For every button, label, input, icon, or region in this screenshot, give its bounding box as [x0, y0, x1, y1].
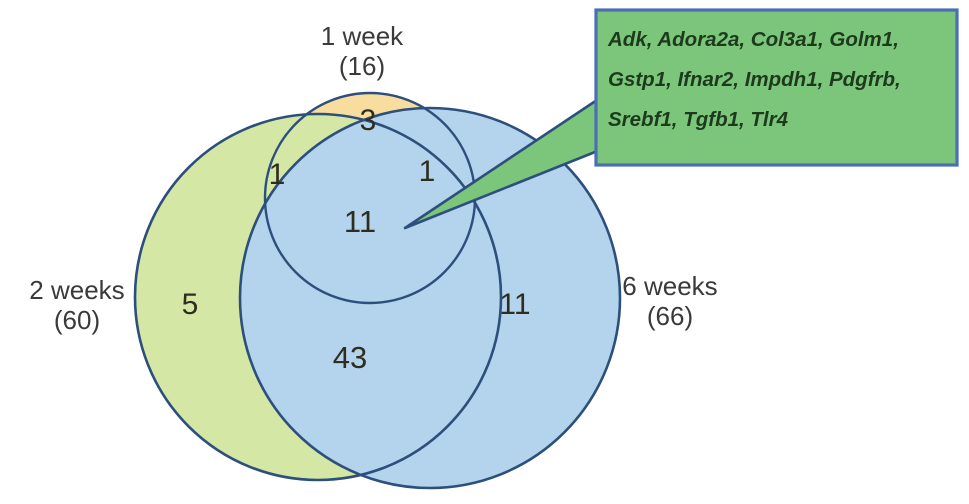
region-count-only-6-weeks: 11 — [478, 288, 552, 322]
callout-gene-line-2: Gstp1, Ifnar2, Impdh1, Pdgfrb, — [608, 60, 950, 100]
set-label-2-weeks-name: 2 weeks — [29, 275, 124, 305]
set-label-2-weeks: 2 weeks (60) — [2, 276, 152, 336]
region-count-1-week-and-6-weeks: 1 — [402, 155, 452, 189]
set-label-1-week: 1 week (16) — [262, 22, 462, 82]
region-count-only-2-weeks: 5 — [160, 288, 220, 322]
region-count-2-weeks-and-6-weeks: 43 — [310, 340, 390, 376]
callout-gene-line-3: Srebf1, Tgfb1, Tlr4 — [608, 100, 950, 140]
set-label-6-weeks-name: 6 weeks — [622, 271, 717, 301]
set-label-1-week-name: 1 week — [321, 21, 403, 51]
venn-diagram-figure: 1 week (16) 2 weeks (60) 6 weeks (66) 3 … — [0, 0, 969, 504]
region-count-only-1-week: 3 — [338, 104, 398, 138]
set-label-6-weeks-count: (66) — [584, 302, 756, 332]
region-count-all-three: 11 — [320, 204, 400, 240]
callout-gene-line-1: Adk, Adora2a, Col3a1, Golm1, — [608, 20, 950, 60]
set-label-2-weeks-count: (60) — [2, 306, 152, 336]
set-label-6-weeks: 6 weeks (66) — [584, 272, 756, 332]
set-label-1-week-count: (16) — [262, 52, 462, 82]
region-count-1-week-and-2-weeks: 1 — [252, 158, 302, 192]
callout-gene-list: Adk, Adora2a, Col3a1, Golm1, Gstp1, Ifna… — [608, 20, 950, 140]
